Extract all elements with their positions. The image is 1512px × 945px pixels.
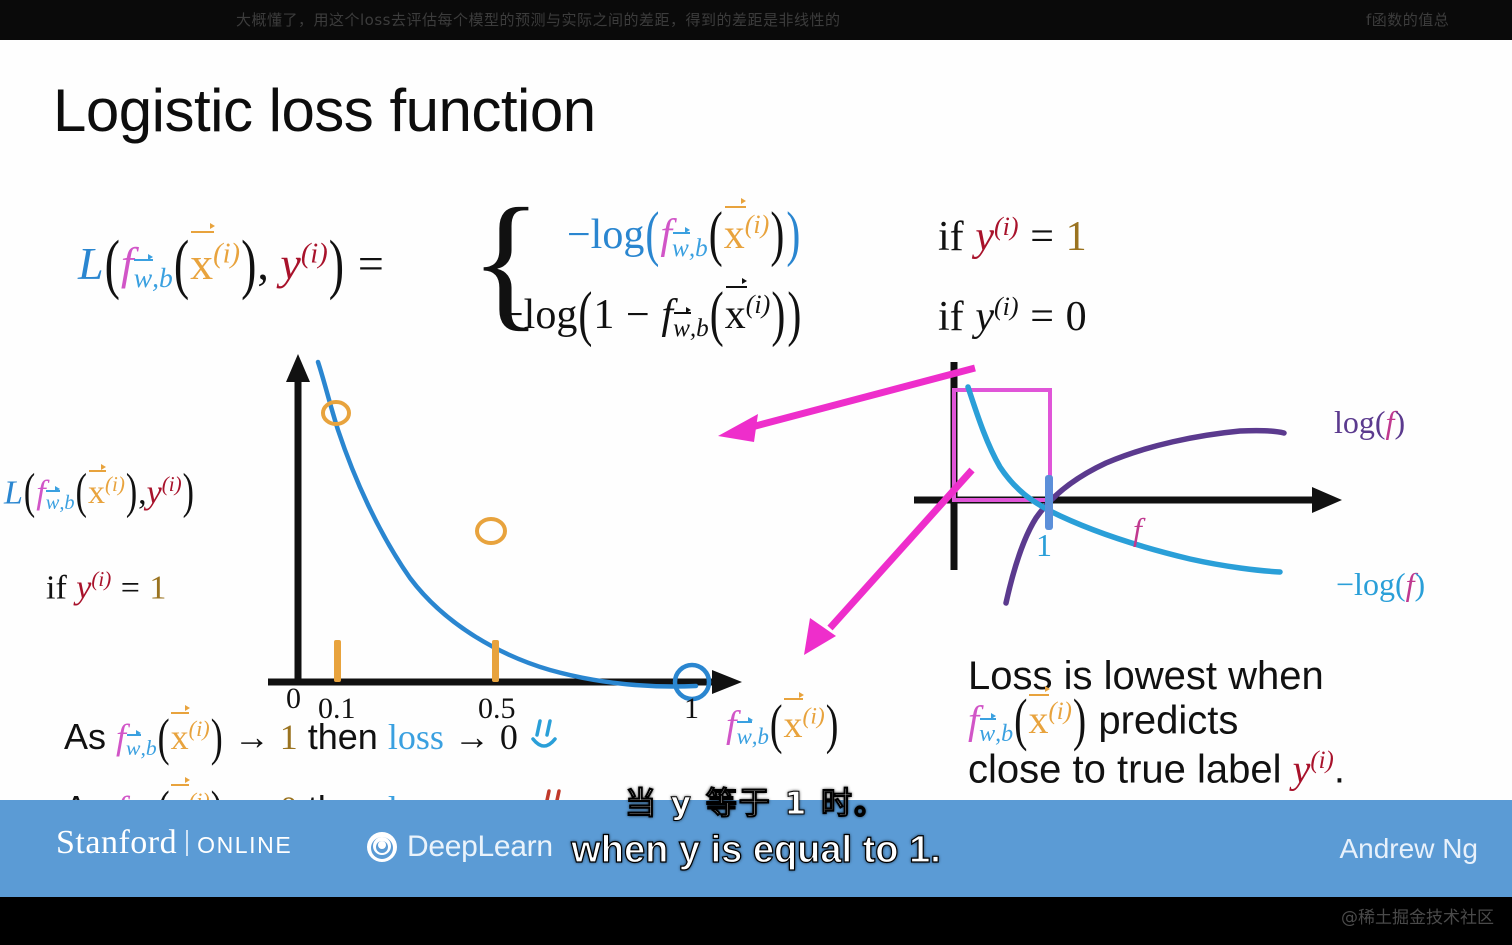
transcript-line-right: f函数的值总 [1366,9,1449,30]
tick-label-1: 1 [684,692,699,726]
label-f-axis: f [1133,511,1142,548]
deeplearning-logo: DeepLearn [366,830,553,864]
right-x-axis-arrowhead [1312,487,1342,513]
slide-footer: StanfordONLINE DeepLearn Andrew Ng [0,800,1512,897]
deeplearning-wordmark: DeepLearn [407,830,553,864]
tick-0p1 [334,640,341,682]
conclusion-line-1: As fw,b(x(i)) → 1 then loss → 0 [64,716,570,761]
logo-divider [186,830,188,856]
arrow-2-line [830,470,972,628]
symbol-b: b [159,262,173,293]
slide-canvas: Logistic loss function L(fw,b(x(i)), y(i… [0,40,1512,800]
loss-word-1: loss [388,717,444,757]
loss-equation-lhs: L(fw,b(x(i)), y(i)) = [78,236,384,294]
stanford-wordmark: Stanford [56,824,177,861]
x-axis-label: fw,b(x(i)) [726,703,839,750]
annotation-arrows [700,340,1120,680]
arrows-svg [700,340,1120,680]
y-axis-arrowhead [286,354,310,382]
y-axis-label: L(fw,b(x(i)),y(i)) [4,472,195,515]
page-title: Logistic loss function [53,76,596,145]
symbol-f: f [121,238,134,289]
symbol-y: y [280,238,300,289]
tick-0p5 [492,640,499,682]
arrow-1-line [748,368,975,428]
superscript-i: (i) [213,239,240,270]
label-one-right-chart: 1 [1036,527,1052,564]
explanation-line-3: close to true label y(i). [968,747,1345,791]
watermark: @稀土掘金技术社区 [1341,903,1494,928]
symbol-x-vector: x [190,237,213,290]
online-wordmark: ONLINE [197,832,292,858]
left-chart-svg [250,320,770,720]
symbol-w-vector: w [134,262,152,294]
author-name: Andrew Ng [1339,833,1478,865]
marker-point-0p5 [477,519,505,543]
arrow-1-head [718,414,758,442]
explanation-text: Loss is lowest when fw,b(x(i)) predicts … [968,654,1345,791]
transcript-line-left: 大概懂了，用这个loss去评估每个模型的预测与实际之间的差距，得到的差距是非线性… [236,9,840,30]
smiley-face-icon [528,717,570,757]
screenshot-root: 大概懂了，用这个loss去评估每个模型的预测与实际之间的差距，得到的差距是非线性… [0,0,1512,945]
equals-sign: = [358,238,384,289]
stanford-logo: StanfordONLINE [56,824,292,862]
symbol-L: L [78,238,104,289]
explanation-line-2: fw,b(x(i)) predicts [968,698,1345,747]
y-axis-condition: if y(i) = 1 [46,567,166,607]
loss-case-1: −log(fw,b(x(i))) [567,210,801,263]
left-loss-chart: 0 0.1 0.5 1 [250,320,770,720]
tick-label-0: 0 [286,682,301,716]
loss-curve [318,362,696,686]
transcript-bar: 大概懂了，用这个loss去评估每个模型的预测与实际之间的差距，得到的差距是非线性… [0,0,1512,40]
label-neg-log-f: −log(f) [1336,566,1425,603]
loss-condition-1: if y(i) = 1 [938,212,1087,261]
label-y-equals-one: 1 [1066,214,1087,260]
deeplearning-spiral-icon [366,831,398,863]
label-log-f: log(f) [1334,404,1405,441]
neg-log-1: −log [567,212,644,258]
